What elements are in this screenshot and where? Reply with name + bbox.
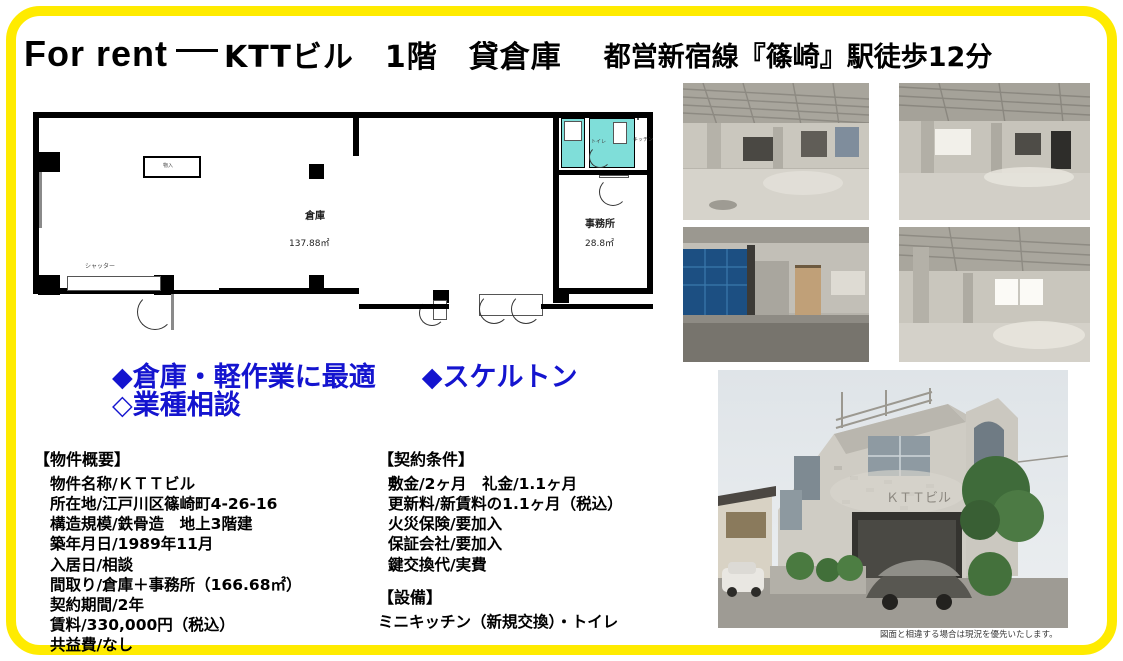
column-center-top <box>309 164 324 179</box>
property-overview-block: 【物件概要】 物件名称/ＫＴＴビル 所在地/江戸川区篠崎町4-26-16 構造規… <box>34 446 374 655</box>
list-item: 所在地/江戸川区篠崎町4-26-16 <box>50 494 374 514</box>
list-item: 物件名称/ＫＴＴビル <box>50 474 374 494</box>
photo-building-exterior: ＫＴＴビル <box>718 370 1068 628</box>
warehouse-area-label: 137.88㎡ <box>289 240 330 249</box>
section-gap <box>378 575 708 584</box>
toilet-fixture <box>613 122 627 144</box>
feature-row-1: ◆倉庫・軽作業に最適 ◆スケルトン <box>112 364 652 392</box>
list-item: 賃料/330,000円（税込） <box>50 615 374 635</box>
list-item: 火災保険/要加入 <box>388 514 708 534</box>
list-item: 鍵交換代/実費 <box>388 555 708 575</box>
feature-industry-consult: ◇業種相談 <box>112 392 241 420</box>
overview-heading: 【物件概要】 <box>34 446 374 470</box>
equipment-heading: 【設備】 <box>378 584 708 608</box>
list-item: 入居日/相談 <box>50 555 374 575</box>
disclaimer-text: 図面と相違する場合は現況を優先いたします。 <box>880 628 1058 640</box>
floor-plan: 物入 シャッター 倉庫 137.88㎡ トイレ キッチン 事務所 28.8㎡ <box>33 112 653 334</box>
list-item: 保証会社/要加入 <box>388 534 708 554</box>
entry-door-arc-right <box>511 294 541 324</box>
entry-door-arc-left <box>479 294 509 324</box>
shutter-label: シャッター <box>85 264 115 270</box>
equipment-list: ミニキッチン（新規交換）・トイレ <box>378 612 708 632</box>
photo-interior-warehouse-2 <box>899 83 1090 220</box>
office-wall-bottom <box>553 288 653 294</box>
list-item: 敷金/2ヶ月 礼金/1.1ヶ月 <box>388 474 708 494</box>
office-area-label: 28.8㎡ <box>585 240 614 249</box>
page-title-japanese: KTTビル 1階 貸倉庫 <box>224 32 562 76</box>
toilet-label: トイレ <box>591 140 606 145</box>
photo-interior-warehouse-1 <box>683 83 869 220</box>
photo-interior-warehouse-3 <box>899 227 1090 362</box>
list-item: 更新料/新賃料の1.1ヶ月（税込） <box>388 494 708 514</box>
door-leaf-bottom <box>171 294 174 330</box>
station-access-text: 都営新宿線『篠崎』駅徒歩12分 <box>604 35 993 74</box>
column-left-upper <box>38 152 60 172</box>
kitchen-label: キッチン <box>633 138 653 143</box>
list-item: 構造規模/鉄骨造 地上3階建 <box>50 514 374 534</box>
header: For rent KTTビル 1階 貸倉庫 都営新宿線『篠崎』駅徒歩12分 <box>24 28 1099 80</box>
wall-lower-right-strip <box>359 304 449 309</box>
entrance-door-arc <box>137 294 173 330</box>
feature-row-2: ◇業種相談 <box>112 392 652 420</box>
column-left-lower <box>38 275 60 295</box>
list-item: 共益費/なし <box>50 635 374 655</box>
office-door-arc <box>599 178 627 206</box>
office-label: 事務所 <box>585 220 615 230</box>
title-dash <box>176 49 218 52</box>
contract-terms-block: 【契約条件】 敷金/2ヶ月 礼金/1.1ヶ月 更新料/新賃料の1.1ヶ月（税込）… <box>378 446 708 632</box>
small-storage-label: 物入 <box>163 164 173 169</box>
kitchen-area <box>637 118 639 120</box>
svg-text:ＫＴＴビル: ＫＴＴビル <box>886 491 951 506</box>
list-item: 契約期間/2年 <box>50 595 374 615</box>
list-item: 間取り/倉庫＋事務所（166.68㎡） <box>50 575 374 595</box>
toilet-door-arc <box>589 146 611 168</box>
wall-vertical-mid <box>353 112 359 156</box>
terms-heading: 【契約条件】 <box>378 446 708 470</box>
page-title-english: For rent <box>24 33 168 75</box>
overview-list: 物件名称/ＫＴＴビル 所在地/江戸川区篠崎町4-26-16 構造規模/鉄骨造 地… <box>50 474 374 655</box>
wall-top-left <box>33 112 359 118</box>
wall-window-left <box>39 164 42 228</box>
column-center-bot <box>309 275 324 290</box>
wall-lower-far-right <box>541 304 653 309</box>
terms-list: 敷金/2ヶ月 礼金/1.1ヶ月 更新料/新賃料の1.1ヶ月（税込） 火災保険/要… <box>388 474 708 575</box>
photo-interior-entrance <box>683 227 869 362</box>
feature-warehouse-suitable: ◆倉庫・軽作業に最適 <box>112 364 376 392</box>
warehouse-label: 倉庫 <box>305 212 325 222</box>
wall-bottom-mid <box>219 288 359 294</box>
list-item: 築年月日/1989年11月 <box>50 534 374 554</box>
feature-skeleton: ◆スケルトン <box>422 364 578 392</box>
list-item: ミニキッチン（新規交換）・トイレ <box>378 612 708 632</box>
shutter-opening <box>67 276 161 291</box>
flyer-page: For rent KTTビル 1階 貸倉庫 都営新宿線『篠崎』駅徒歩12分 物入… <box>0 0 1123 661</box>
office-wall-left <box>553 112 559 294</box>
feature-bullets: ◆倉庫・軽作業に最適 ◆スケルトン ◇業種相談 <box>112 364 652 419</box>
bathtub-fixture <box>564 121 582 141</box>
